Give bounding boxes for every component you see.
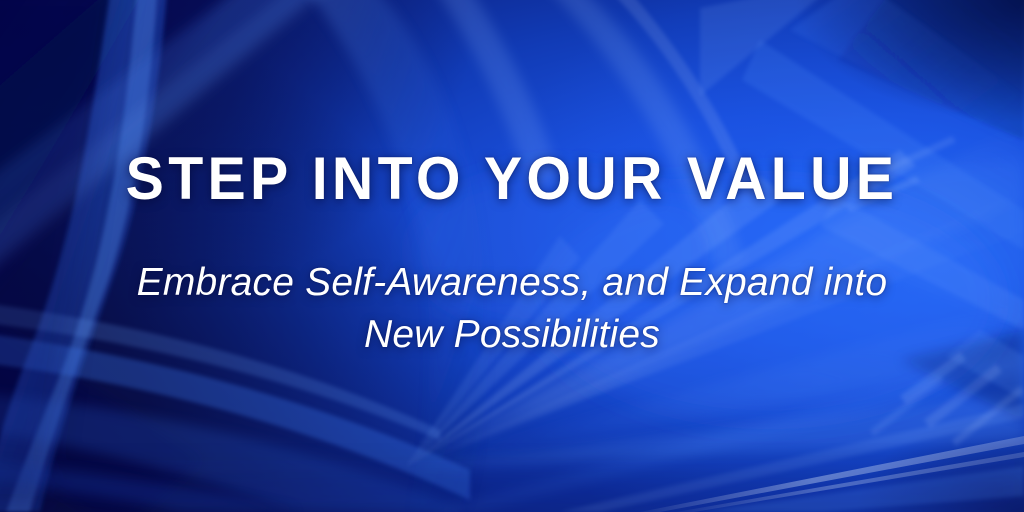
banner-subtitle: Embrace Self-Awareness, and Expand into … — [0, 257, 1024, 361]
banner-subtitle-line-1: Embrace Self-Awareness, and Expand into — [0, 257, 1024, 309]
banner-headline: STEP INTO YOUR VALUE — [23, 148, 1001, 210]
banner-text-block: STEP INTO YOUR VALUE Embrace Self-Awaren… — [0, 0, 1024, 512]
banner-subtitle-line-2: New Possibilities — [0, 309, 1024, 361]
hero-banner: STEP INTO YOUR VALUE Embrace Self-Awaren… — [0, 0, 1024, 512]
